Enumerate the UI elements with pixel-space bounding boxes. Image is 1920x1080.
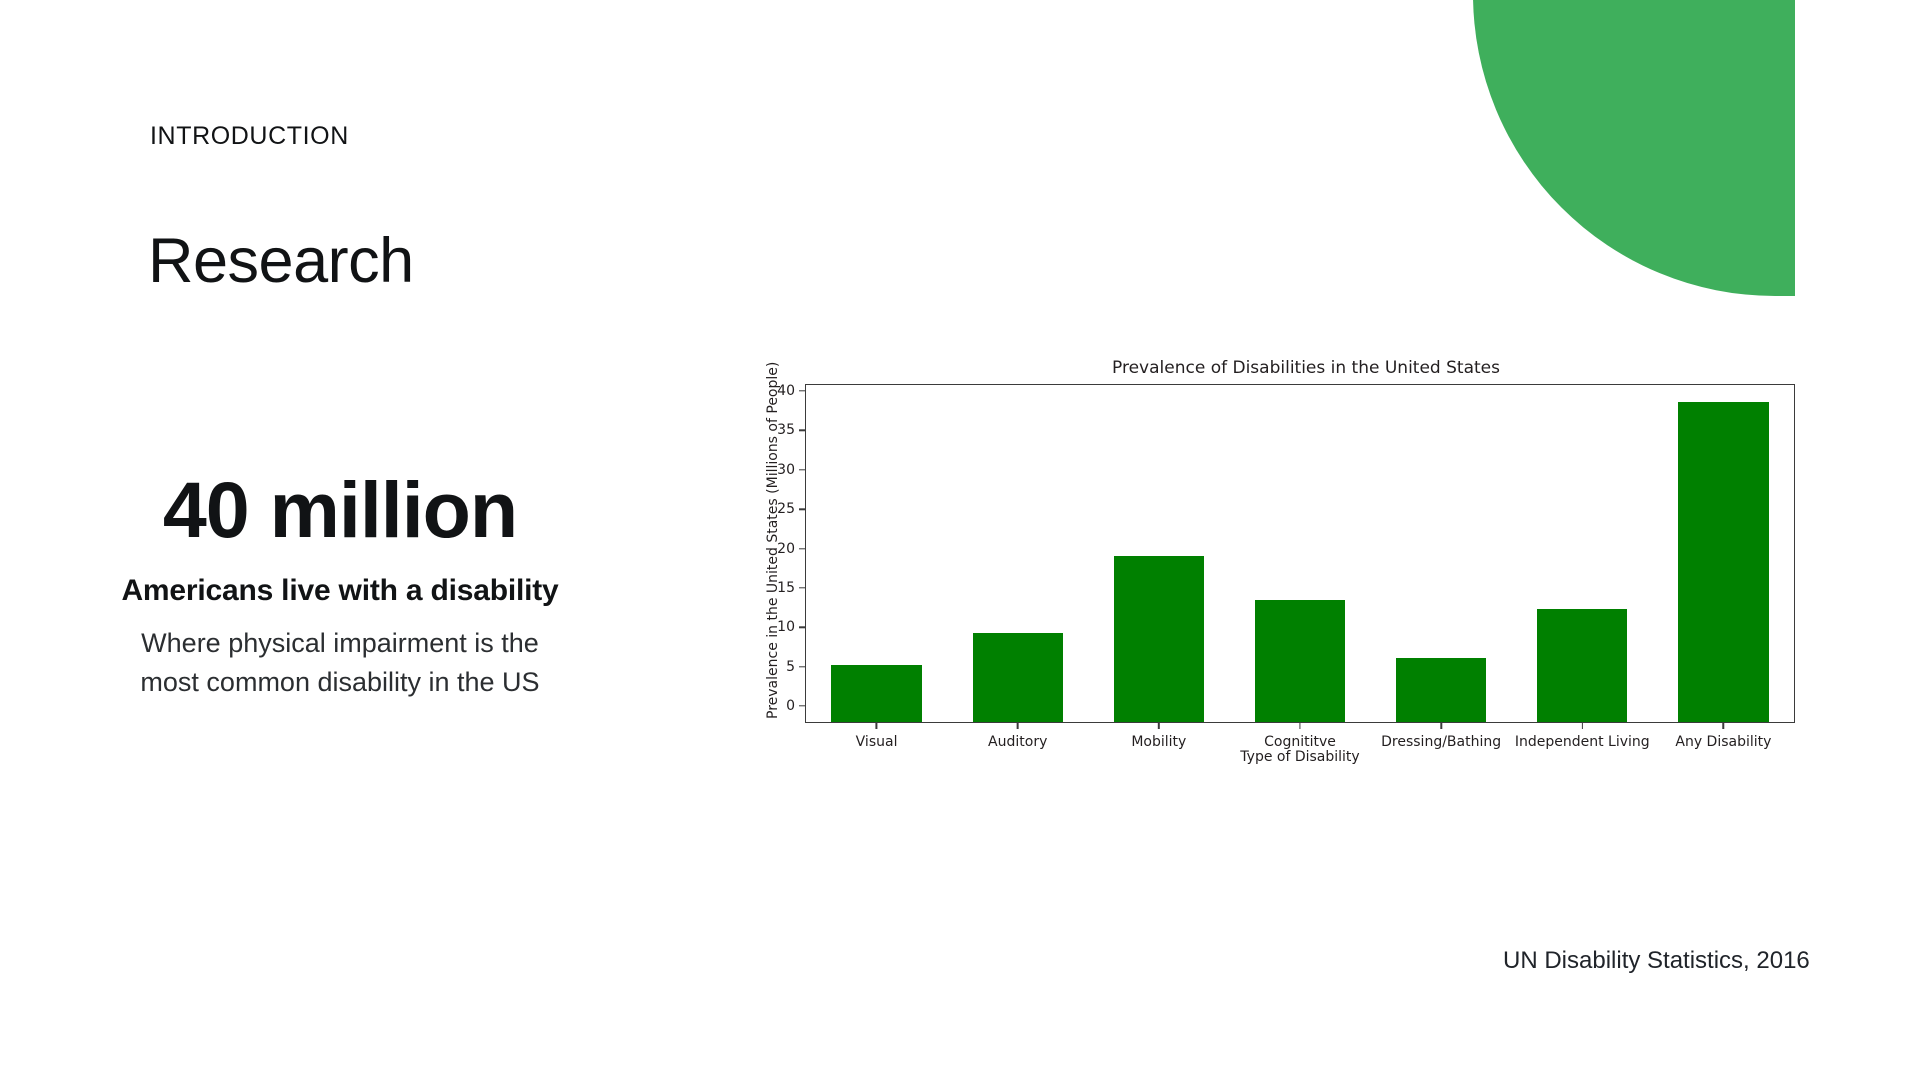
stat-detail-line-1: Where physical impairment is the: [60, 624, 620, 662]
stat-caption: Americans live with a disability: [60, 574, 620, 608]
quarter-circle-green-icon: [1473, 0, 1795, 296]
chart-x-tick: Independent Living: [1515, 734, 1650, 750]
chart-x-tick: Dressing/Bathing: [1381, 734, 1501, 750]
chart-bar: [1537, 609, 1627, 722]
chart-y-tick: 40: [777, 383, 806, 399]
section-eyebrow: INTRODUCTION: [150, 122, 349, 151]
stat-detail: Where physical impairment is the most co…: [60, 624, 620, 701]
chart-bar: [1678, 402, 1768, 722]
chart-bar: [1114, 556, 1204, 722]
chart-y-tick: 30: [777, 462, 806, 478]
chart-bar-slot: Mobility: [1088, 385, 1229, 722]
chart-x-axis-label: Type of Disability: [805, 749, 1795, 765]
stat-number: 40 million: [60, 466, 620, 554]
chart-bar-slot: Cognititve: [1229, 385, 1370, 722]
chart-y-tick: 20: [777, 541, 806, 557]
chart-y-tick: 35: [777, 422, 806, 438]
bar-chart-figure: Prevalence of Disabilities in the United…: [745, 358, 1817, 798]
stat-block: 40 million Americans live with a disabil…: [60, 466, 620, 701]
chart-y-tick: 10: [777, 619, 806, 635]
chart-title: Prevalence of Disabilities in the United…: [745, 358, 1817, 378]
chart-bar: [831, 665, 921, 722]
chart-bar-slot: Visual: [806, 385, 947, 722]
chart-x-tick: Auditory: [988, 734, 1047, 750]
chart-x-tick: Visual: [856, 734, 898, 750]
chart-x-tick: Any Disability: [1675, 734, 1771, 750]
chart-bar-group: VisualAuditoryMobilityCognititveDressing…: [806, 385, 1794, 722]
chart-y-tick: 5: [786, 659, 806, 675]
chart-x-tick: Cognititve: [1264, 734, 1336, 750]
source-citation: UN Disability Statistics, 2016: [1503, 947, 1810, 975]
chart-y-tick: 15: [777, 580, 806, 596]
chart-y-tick: 25: [777, 501, 806, 517]
chart-bar: [973, 633, 1063, 722]
page-title: Research: [148, 228, 414, 294]
slide-canvas: INTRODUCTION Research 40 million America…: [0, 0, 1920, 1080]
chart-x-tick: Mobility: [1131, 734, 1186, 750]
chart-bar-slot: Auditory: [947, 385, 1088, 722]
chart-bar-slot: Any Disability: [1653, 385, 1794, 722]
chart-bar: [1255, 600, 1345, 722]
chart-bar: [1396, 658, 1486, 722]
chart-y-tick: 0: [786, 698, 806, 714]
chart-bar-slot: Independent Living: [1512, 385, 1653, 722]
stat-detail-line-2: most common disability in the US: [60, 663, 620, 701]
chart-bar-slot: Dressing/Bathing: [1371, 385, 1512, 722]
chart-plot-area: 0510152025303540 VisualAuditoryMobilityC…: [805, 384, 1795, 723]
